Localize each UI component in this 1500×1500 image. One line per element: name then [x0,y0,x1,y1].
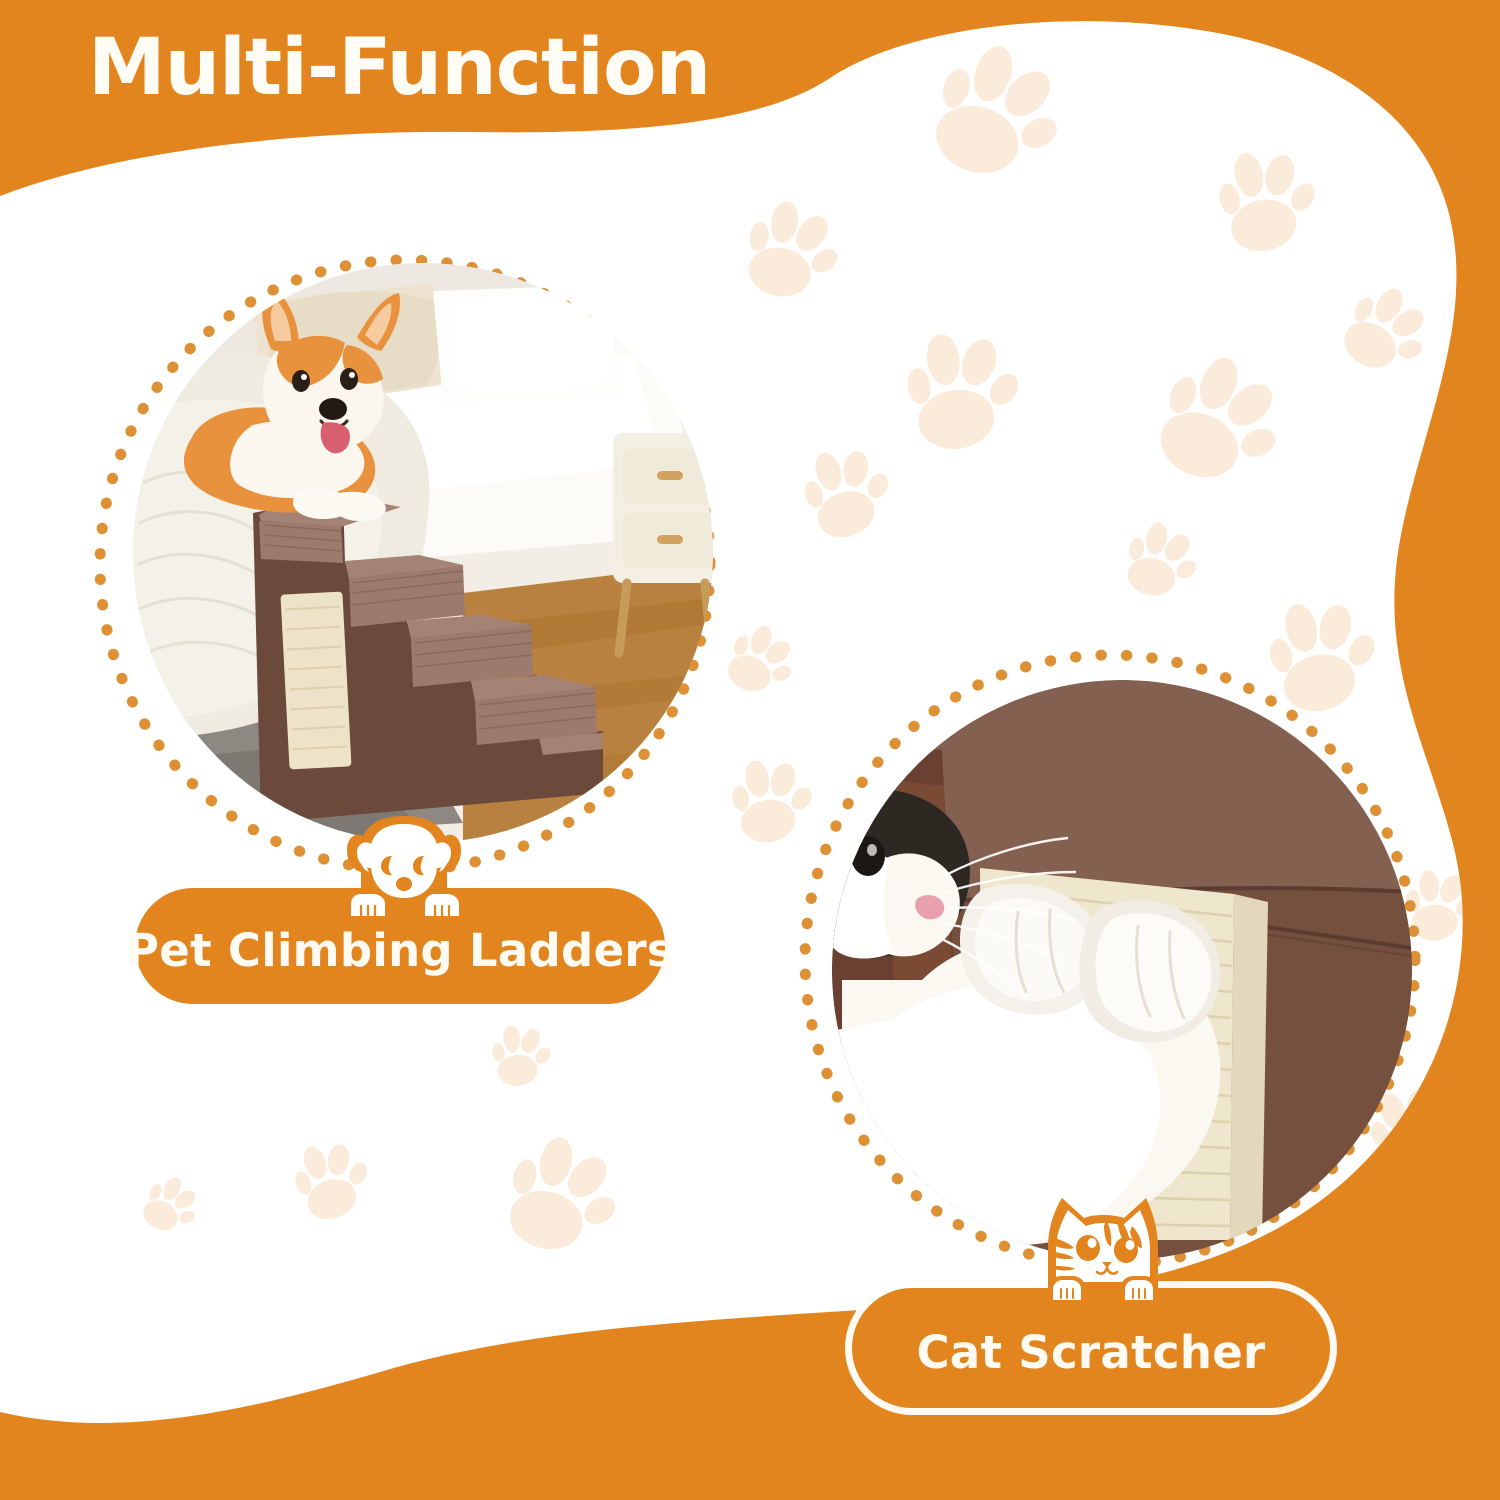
feature-badge-label: Cat Scratcher [916,1326,1265,1379]
dog-on-pet-stairs-photo [133,263,713,843]
feature-photo-cat-scratcher [790,640,1430,1280]
feature-badge-pet-climbing-ladders[interactable]: Pet Climbing Ladders [135,888,665,1004]
feature-photo-pet-climbing-ladders [85,245,725,885]
feature-badge-label: Pet Climbing Ladders [126,924,674,977]
feature-badge-cat-scratcher[interactable]: Cat Scratcher [852,1288,1330,1408]
page-title: Multi-Function [88,28,710,110]
marketing-image-canvas: Multi-Function [0,0,1500,1500]
cat-scratching-sisal-photo [832,680,1412,1260]
